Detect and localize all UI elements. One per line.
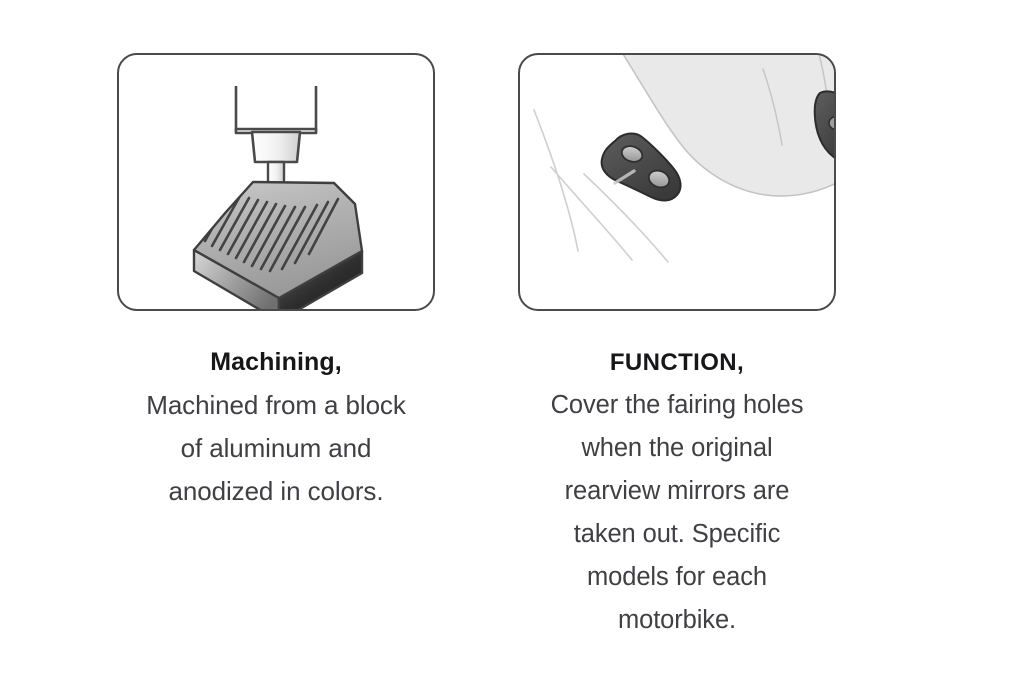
mirror-hole-cover-plate — [602, 134, 681, 201]
feature-columns-page: Machining, Machined from a block of alum… — [0, 0, 1024, 680]
function-heading: FUNCTION, — [518, 341, 836, 384]
cnc-machining-icon — [119, 55, 433, 309]
function-body-line-6: motorbike. — [518, 599, 836, 642]
function-body-line-5: models for each — [518, 556, 836, 599]
fairing-hole-cover-icon — [520, 55, 834, 309]
machining-icon-card — [117, 53, 435, 311]
tool-collar — [252, 132, 300, 162]
feature-columns-container: Machining, Machined from a block of alum… — [0, 0, 1024, 680]
feature-column-machining: Machining, Machined from a block of alum… — [117, 53, 437, 513]
spindle-holder — [236, 86, 316, 133]
feature-column-function: FUNCTION, Cover the fairing holes when t… — [518, 53, 838, 642]
machining-body-line-3: anodized in colors. — [117, 470, 435, 513]
machining-text-block: Machining, Machined from a block of alum… — [117, 341, 435, 513]
machining-body-line-2: of aluminum and — [117, 427, 435, 470]
function-body-line-3: rearview mirrors are — [518, 470, 836, 513]
function-text-block: FUNCTION, Cover the fairing holes when t… — [518, 341, 836, 642]
function-body: Cover the fairing holes when the origina… — [518, 384, 836, 642]
machining-heading: Machining, — [117, 341, 435, 384]
function-icon-card — [518, 53, 836, 311]
function-body-line-2: when the original — [518, 427, 836, 470]
function-body-line-4: taken out. Specific — [518, 513, 836, 556]
machining-body-line-1: Machined from a block — [117, 384, 435, 427]
machining-body: Machined from a block of aluminum and an… — [117, 384, 435, 513]
function-body-line-1: Cover the fairing holes — [518, 384, 836, 427]
